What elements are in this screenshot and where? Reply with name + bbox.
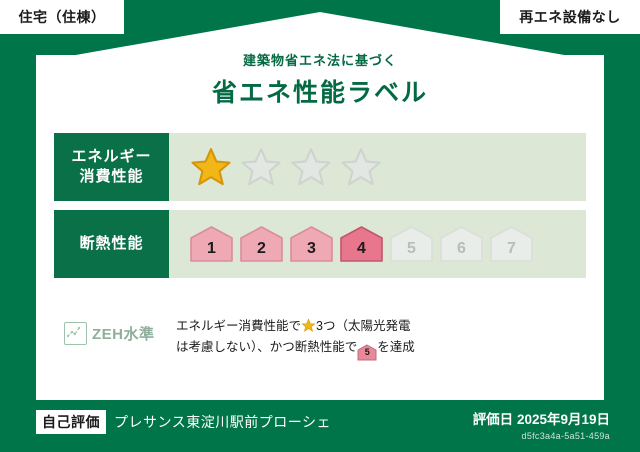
energy-label-line2: 消費性能 <box>79 167 143 187</box>
insulation-performance-label-box: 断熱性能 <box>54 210 169 278</box>
inline-house-value: 5 <box>357 344 377 361</box>
inline-house-icon: 5 <box>357 344 377 360</box>
zeh-description: エネルギー消費性能で 3つ（太陽光発電 は考慮しない）、かつ断熱性能で 5 を達… <box>176 316 586 360</box>
renewable-tab: 再エネ設備なし <box>500 0 640 34</box>
footer-right: 評価日 2025年9月19日 d5fc3a4a-5a51-459a <box>473 408 610 441</box>
energy-performance-label: 住宅（住棟） 再エネ設備なし 建築物省エネ法に基づく 省エネ性能ラベル エネルギ… <box>0 0 640 452</box>
zeh-note: ZEH水準 エネルギー消費性能で 3つ（太陽光発電 は考慮しない）、かつ断熱性能… <box>54 316 586 360</box>
energy-performance-label-box: エネルギー 消費性能 <box>54 133 169 201</box>
insulation-grade-value: 6 <box>457 240 466 263</box>
insulation-grade-value: 1 <box>207 240 216 263</box>
metric-row-insulation: 断熱性能 1234567 <box>54 210 586 278</box>
insulation-label-line1: 断熱性能 <box>79 234 143 254</box>
footer-left: 自己評価 プレサンス東淀川駅前プローシェ <box>36 410 331 434</box>
metric-row-energy: エネルギー 消費性能 <box>54 133 586 201</box>
zeh-note-part3: は考慮しない）、かつ断熱性能で <box>176 340 357 354</box>
evaluation-date: 評価日 2025年9月19日 <box>473 408 610 428</box>
star-rating <box>169 133 586 201</box>
house-type-label: 住宅（住棟） <box>19 7 106 27</box>
insulation-grade-badge: 5 <box>389 225 434 263</box>
insulation-grade-badge: 3 <box>289 225 334 263</box>
star-icon-empty <box>239 146 283 188</box>
building-name: プレサンス東淀川駅前プローシェ <box>114 412 331 432</box>
star-icon-filled <box>189 146 233 188</box>
zeh-note-part4: を達成 <box>377 340 415 354</box>
zeh-standard: ZEH水準 <box>54 316 176 345</box>
zeh-label: ZEH水準 <box>92 323 155 344</box>
insulation-grade-value: 4 <box>357 240 366 263</box>
self-evaluation-badge: 自己評価 <box>36 410 106 434</box>
energy-label-line1: エネルギー <box>71 147 151 167</box>
zeh-note-part2: 3つ（太陽光発電 <box>316 319 410 333</box>
insulation-grade-badge: 2 <box>239 225 284 263</box>
house-grade-scale: 1234567 <box>189 225 534 263</box>
insulation-grade-value: 3 <box>307 240 316 263</box>
footer: 自己評価 プレサンス東淀川駅前プローシェ 評価日 2025年9月19日 d5fc… <box>0 400 640 452</box>
insulation-grade-badge: 1 <box>189 225 234 263</box>
insulation-grade-badge: 4 <box>339 225 384 263</box>
star-icon-empty <box>289 146 333 188</box>
insulation-grade-value: 7 <box>507 240 516 263</box>
house-type-tab: 住宅（住棟） <box>0 0 124 34</box>
inline-star-icon <box>301 318 316 333</box>
evaluation-id: d5fc3a4a-5a51-459a <box>473 431 610 441</box>
zeh-note-part1: エネルギー消費性能で <box>176 319 301 333</box>
insulation-grade-value: 1234567 <box>169 210 586 278</box>
insulation-grade-value: 2 <box>257 240 266 263</box>
insulation-grade-value: 5 <box>407 240 416 263</box>
renewable-label: 再エネ設備なし <box>519 7 621 27</box>
insulation-grade-badge: 6 <box>439 225 484 263</box>
insulation-grade-badge: 7 <box>489 225 534 263</box>
metric-rows: エネルギー 消費性能 断熱性能 1234567 <box>54 133 586 287</box>
star-icon-empty <box>339 146 383 188</box>
zeh-chart-icon <box>64 322 87 345</box>
